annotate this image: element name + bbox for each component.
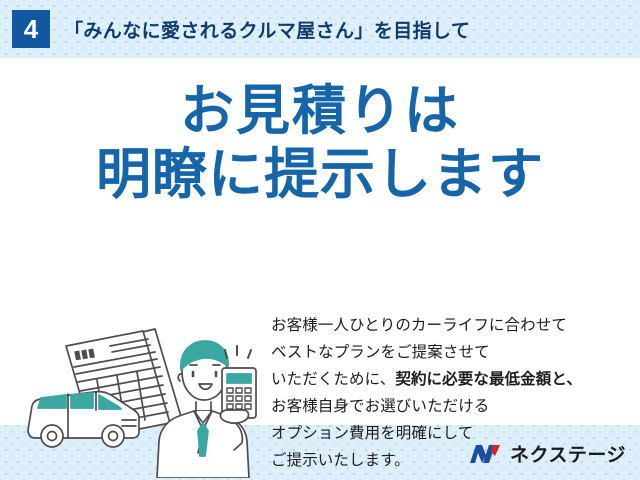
headline-line-1: お見積りは [0,80,640,143]
headline: お見積りは 明瞭に提示します [0,80,640,206]
header-title: 「みんなに愛されるクルマ屋さん」を目指して [64,16,470,43]
content-panel: お見積りは 明瞭に提示します お客様一人ひとりのカーライフに合わせて ベストなプ… [0,58,640,425]
illustration-svg [22,310,272,478]
body-line-4: お客様自身でお選びいただける [271,393,631,420]
body-line-3-emphasis: 契約に必要な最低金額と、 [395,371,582,388]
nextstage-n-logo-icon [469,442,503,466]
body-line-1: お客様一人ひとりのカーライフに合わせて [271,312,631,339]
body-line-3-plain: いただくために、 [271,371,395,388]
section-number-badge: 4 [12,10,50,48]
sparkle-icon [225,346,251,358]
brand-name: ネクステージ [510,440,626,467]
promo-banner: 4 「みんなに愛されるクルマ屋さん」を目指して お見積りは 明瞭に提示します お… [0,0,640,480]
body-line-2: ベストなプランをご提案させて [271,339,631,366]
salesperson-illustration [22,310,272,478]
body-line-3: いただくために、契約に必要な最低金額と、 [271,366,631,393]
headline-line-2: 明瞭に提示します [0,143,640,207]
brand-logo: ネクステージ [469,440,626,467]
banner-header: 4 「みんなに愛されるクルマ屋さん」を目指して [0,0,640,58]
